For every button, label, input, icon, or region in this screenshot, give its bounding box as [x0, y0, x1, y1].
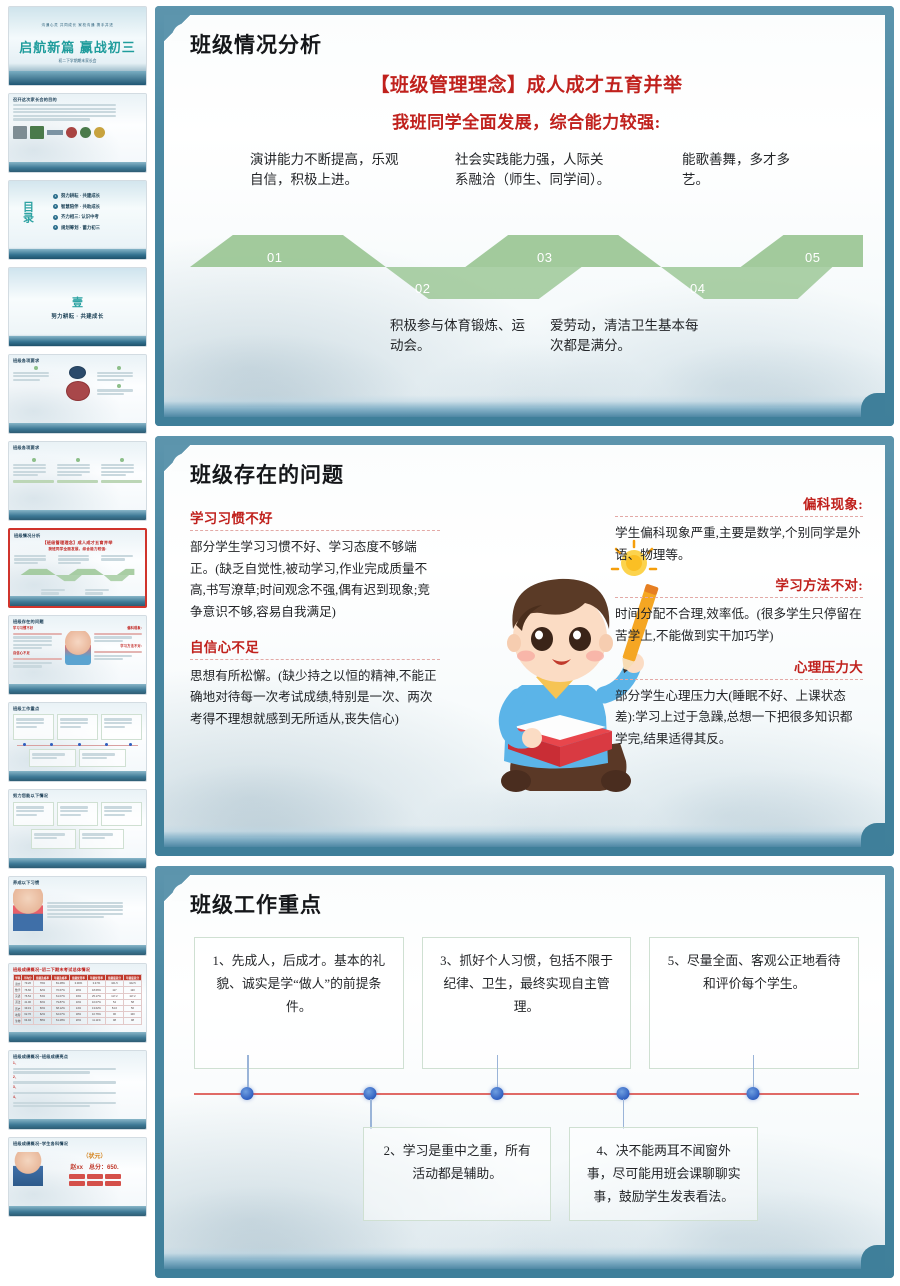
- zigzag-caption-03: 社会实践能力强，人际关系融洽（师生、同学间）。: [455, 150, 615, 191]
- page-title: 班级存在的问题: [190, 459, 863, 489]
- timeline-stem-5: [753, 1055, 754, 1087]
- zigzag-process-chart: 演讲能力不断提高，乐观自信，积极上进。 社会实践能力强，人际关系融洽（师生、同学…: [190, 150, 863, 380]
- thumb-catalog-item: 齐力相三: 认识中考: [61, 214, 99, 220]
- timeline-axis: [194, 1087, 859, 1101]
- problem-heading: 自信心不足: [190, 636, 440, 656]
- thumb-arrow-icon: [47, 130, 63, 135]
- thumb-catalog-label: 目录: [22, 201, 32, 223]
- thumb-title: 养成以下习惯: [13, 880, 142, 885]
- dashed-divider: [615, 516, 863, 517]
- slide-thumbnail-14-award[interactable]: 班级成绩概况–学生各科情况 （状元） 赵xx 总分：650.: [8, 1137, 147, 1217]
- zigzag-caption-04: 爱劳动，清洁卫生基本每次都是满分。: [550, 316, 710, 357]
- slide-canvas: 班级存在的问题: [164, 445, 885, 847]
- thumb-catalog-item: 智慧陪伴 · 共助成长: [61, 204, 100, 210]
- thumb-shape: [80, 127, 91, 138]
- thumb-photo: [66, 381, 90, 401]
- zigzag-shape: [190, 234, 863, 300]
- thumb-title: 班级工作重点: [13, 706, 142, 711]
- slide-subheadline: 我班同学全面发展，综合能力较强:: [190, 108, 863, 133]
- timeline-card-5: 5、尽量全面、客观公正地看待和评价每个学生。: [649, 937, 859, 1069]
- thumb-section-number: 壹: [9, 294, 146, 310]
- zigzag-number-02: 02: [415, 281, 430, 296]
- slide-headline: 【班级管理理念】成人成才五育并举: [190, 70, 863, 97]
- problem-body: 部分学生心理压力大(睡眠不好、上课状态差):学习上过于急躁,总想一下把很多知识都…: [615, 686, 863, 751]
- thumb-shape: [94, 127, 105, 138]
- thumb-subtitle: 初二下学期期末家长会: [9, 59, 146, 64]
- thumb-zigzag-chart: [14, 568, 141, 582]
- thumb-award-score: 总分：650.: [89, 1162, 119, 1171]
- thumb-title: 班级各项要求: [13, 445, 142, 450]
- timeline-card-2: 2、学习是重中之重，所有活动都是辅助。: [363, 1127, 552, 1221]
- problem-heading: 学习方法不对:: [615, 574, 863, 594]
- slide-thumbnail-11[interactable]: 养成以下习惯: [8, 876, 147, 956]
- problem-body: 思想有所松懈。(缺少持之以恒的精神,不能正确地对待每一次考试成绩,特别是一次、两…: [190, 666, 440, 731]
- slide-thumbnail-6[interactable]: 班级各项要求: [8, 441, 147, 521]
- thumb-shape: [13, 126, 27, 139]
- slide-thumbnail-9[interactable]: 班级工作重点: [8, 702, 147, 782]
- timeline-card-4: 4、决不能两耳不闻窗外事，尽可能用班会课聊聊实事，鼓励学生发表看法。: [569, 1127, 758, 1221]
- slide-thumbnail-3-catalog[interactable]: 目录 1努力耕耘 · 共建成长 2智慧陪伴 · 共助成长 3齐力相三: 认识中考…: [8, 180, 147, 260]
- timeline-dot-3: [490, 1087, 503, 1100]
- thumb-award-name: 赵xx: [70, 1162, 83, 1171]
- thumb-award-badge: （状元）: [47, 1151, 142, 1160]
- page-title: 班级情况分析: [190, 29, 863, 59]
- problem-heading: 偏科现象:: [615, 493, 863, 513]
- thumb-catalog-item: 规划筹划 · 蓄力初三: [61, 225, 100, 231]
- timeline-line: [194, 1093, 859, 1095]
- dashed-divider: [190, 530, 440, 531]
- timeline-dot-1: [241, 1087, 254, 1100]
- timeline-card-3: 3、抓好个人习惯，包括不限于纪律、卫生，最终实现自主管理。: [422, 937, 632, 1069]
- thumb-shape: [66, 127, 77, 138]
- thumb-photo: [69, 366, 86, 379]
- thumb-title: 班级各项要求: [13, 358, 142, 363]
- timeline-stem-3: [497, 1055, 498, 1087]
- thumb-title: 班级成绩概况–初二下期末考试总体情况: [13, 967, 142, 972]
- thumb-title: 启航新篇 赢战初三: [9, 37, 146, 56]
- zigzag-number-04: 04: [690, 281, 705, 296]
- thumb-subheadline: 我班同学全面发展，综合能力较强:: [14, 547, 141, 551]
- problem-heading: 学习习惯不好: [190, 507, 440, 527]
- thumb-shape: [30, 126, 44, 139]
- thumb-illustration-boy: [65, 631, 91, 665]
- slide-canvas: 班级情况分析 【班级管理理念】成人成才五育并举 我班同学全面发展，综合能力较强:…: [164, 15, 885, 417]
- dashed-divider: [190, 659, 440, 660]
- dashed-divider: [615, 597, 863, 598]
- zigzag-number-01: 01: [267, 250, 282, 265]
- slide-thumbnail-13[interactable]: 班级成绩概况–班级成绩亮点 1、 2、 3、 4、: [8, 1050, 147, 1130]
- thumb-title: 努力您能以下情况: [13, 793, 142, 798]
- slide-canvas: 班级工作重点 1、先成人，后成才。基本的礼貌、诚实是学“做人”的前提条件。 3、…: [164, 875, 885, 1269]
- zigzag-number-05: 05: [805, 250, 820, 265]
- problem-body: 时间分配不合理,效率低。(很多学生只停留在苦学上,不能做到实干加巧学): [615, 604, 863, 647]
- slide-stage: 班级情况分析 【班级管理理念】成人成才五育并举 我班同学全面发展，综合能力较强:…: [155, 0, 900, 1286]
- slide-thumbnail-sidebar[interactable]: 沟通心灵 共同成长 家校沟通 携手并进 启航新篇 赢战初三 初二下学期期末家长会…: [0, 0, 155, 1286]
- problem-body: 学生偏科现象严重,主要是数学,个别同学是外语、物理等。: [615, 523, 863, 566]
- slide-thumbnail-1[interactable]: 沟通心灵 共同成长 家校沟通 携手并进 启航新篇 赢战初三 初二下学期期末家长会: [8, 6, 147, 86]
- thumb-headline: 【班级管理理念】成人成才五育并举: [14, 540, 141, 545]
- slide-class-analysis[interactable]: 班级情况分析 【班级管理理念】成人成才五育并举 我班同学全面发展，综合能力较强:…: [155, 6, 894, 426]
- problem-block-3: 偏科现象: 学生偏科现象严重,主要是数学,个别同学是外语、物理等。: [615, 493, 863, 566]
- thumb-water-band: [9, 71, 146, 85]
- thumb-topline: 沟通心灵 共同成长 家校沟通 携手并进: [9, 23, 146, 28]
- layout-spacer: [194, 1127, 345, 1221]
- slide-thumbnail-7-selected[interactable]: 班级情况分析 【班级管理理念】成人成才五育并举 我班同学全面发展，综合能力较强:: [8, 528, 147, 608]
- zigzag-caption-01: 演讲能力不断提高，乐观自信，积极上进。: [250, 150, 400, 191]
- timeline-card-1: 1、先成人，后成才。基本的礼貌、诚实是学“做人”的前提条件。: [194, 937, 404, 1069]
- slide-class-problems[interactable]: 班级存在的问题: [155, 436, 894, 856]
- problem-body: 部分学生学习习惯不好、学习态度不够端正。(缺乏自觉性,被动学习,作业完成质量不高…: [190, 537, 440, 624]
- problem-block-2: 自信心不足 思想有所松懈。(缺少持之以恒的精神,不能正确地对待每一次考试成绩,特…: [190, 636, 440, 731]
- thumb-title: 班级成绩概况–学生各科情况: [13, 1141, 142, 1146]
- slide-thumbnail-8[interactable]: 班级存在的问题 学习习惯不好 自信心不足 偏科现象: 学习方法不对:: [8, 615, 147, 695]
- timeline-top-cards: 1、先成人，后成才。基本的礼貌、诚实是学“做人”的前提条件。 3、抓好个人习惯，…: [194, 937, 859, 1069]
- zigzag-caption-02: 积极参与体育锻炼、运动会。: [390, 316, 530, 357]
- thumb-title: 召开这次家长会的目的: [13, 97, 142, 102]
- timeline-stem-4: [623, 1099, 624, 1129]
- timeline-dot-5: [746, 1087, 759, 1100]
- problem-block-4: 学习方法不对: 时间分配不合理,效率低。(很多学生只停留在苦学上,不能做到实干加…: [615, 574, 863, 647]
- thumb-catalog-item: 努力耕耘 · 共建成长: [61, 193, 100, 199]
- timeline-stem-1: [247, 1055, 248, 1087]
- presentation-app: 沟通心灵 共同成长 家校沟通 携手并进 启航新篇 赢战初三 初二下学期期末家长会…: [0, 0, 900, 1286]
- slide-thumbnail-5[interactable]: 班级各项要求: [8, 354, 147, 434]
- thumb-illustration-student: [13, 1152, 43, 1186]
- problems-right-column: 偏科现象: 学生偏科现象严重,主要是数学,个别同学是外语、物理等。 学习方法不对…: [615, 493, 863, 751]
- thumb-title: 班级存在的问题: [13, 619, 142, 624]
- thumb-table: 学科 平均分 班级及格率 年级及格率 班级优秀率 年级优秀率 班级最高分 年级最…: [13, 974, 142, 1025]
- table-row: 生物64.9458%61.28%20%11.11%9898: [14, 1018, 142, 1024]
- thumb-title: 班级情况分析: [14, 533, 141, 538]
- slide-work-focus[interactable]: 班级工作重点 1、先成人，后成才。基本的礼貌、诚实是学“做人”的前提条件。 3、…: [155, 866, 894, 1278]
- zigzag-caption-05: 能歌善舞，多才多艺。: [682, 150, 802, 191]
- zigzag-number-03: 03: [537, 250, 552, 265]
- slide-thumbnail-2[interactable]: 召开这次家长会的目的: [8, 93, 147, 173]
- problems-left-column: 学习习惯不好 部分学生学习习惯不好、学习态度不够端正。(缺乏自觉性,被动学习,作…: [190, 507, 440, 731]
- slide-thumbnail-4-section[interactable]: 壹 努力耕耘 · 共建成长: [8, 267, 147, 347]
- dashed-divider: [615, 679, 863, 680]
- thumb-title: 班级成绩概况–班级成绩亮点: [13, 1054, 142, 1059]
- slide-thumbnail-10[interactable]: 努力您能以下情况: [8, 789, 147, 869]
- thumb-illustration-girl: [13, 889, 43, 931]
- timeline-stem-2: [370, 1099, 371, 1129]
- slide-thumbnail-12-table[interactable]: 班级成绩概况–初二下期末考试总体情况 学科 平均分 班级及格率 年级及格率 班级…: [8, 963, 147, 1043]
- problem-block-1: 学习习惯不好 部分学生学习习惯不好、学习态度不够端正。(缺乏自觉性,被动学习,作…: [190, 507, 440, 624]
- layout-spacer: [776, 1127, 859, 1221]
- timeline-bottom-cards: 2、学习是重中之重，所有活动都是辅助。 4、决不能两耳不闻窗外事，尽可能用班会课…: [194, 1127, 859, 1221]
- page-title: 班级工作重点: [190, 889, 863, 919]
- problem-heading: 心理压力大: [615, 656, 863, 676]
- thumb-section-title: 努力耕耘 · 共建成长: [9, 312, 146, 320]
- problem-block-5: 心理压力大 部分学生心理压力大(睡眠不好、上课状态差):学习上过于急躁,总想一下…: [615, 656, 863, 751]
